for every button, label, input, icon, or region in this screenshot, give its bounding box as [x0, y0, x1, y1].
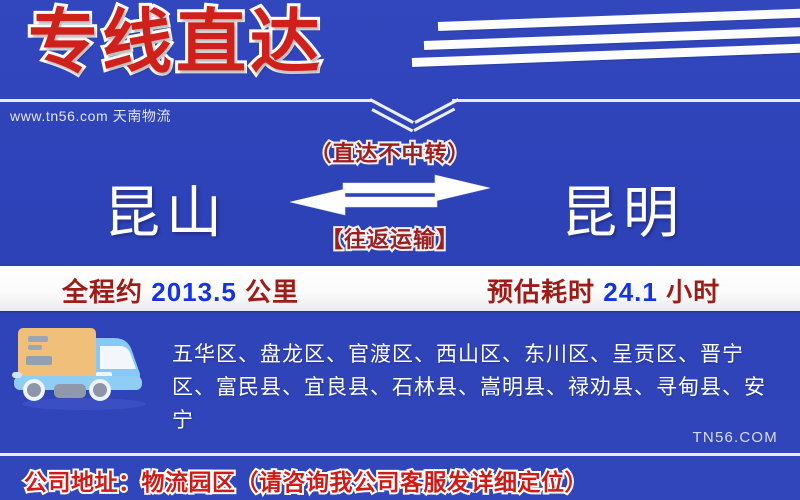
distance-value: 2013.5: [151, 277, 237, 307]
destination-city: 昆明: [561, 168, 685, 249]
route-caption-bottom: 【往返运输】: [275, 222, 505, 254]
metrics-band: 全程约 2013.5 公里 预估耗时 24.1 小时: [0, 266, 800, 311]
duration-unit: 小时: [666, 277, 720, 307]
footer-divider: [0, 453, 800, 456]
distance-prefix: 全程约: [62, 277, 143, 307]
route-middle-block: （直达不中转） 【往返运输】: [275, 136, 505, 254]
duration-prefix: 预估耗时: [487, 277, 595, 307]
website-label: www.tn56.com 天南物流: [10, 106, 171, 126]
footer-bar: 公司地址：物流园区（请咨询我公司客服发详细定位）: [0, 459, 800, 500]
duration-value: 24.1: [603, 277, 658, 307]
divider-rule-left: [0, 99, 372, 102]
divider-rule-right: [452, 99, 800, 102]
diagonal-stripe-1: [438, 7, 800, 31]
distance-unit: 公里: [245, 277, 299, 307]
coverage-district-list: 五华区、盘龙区、官渡区、西山区、东川区、呈贡区、晋宁区、富民县、宜良县、石林县、…: [172, 338, 780, 437]
logistics-route-poster: 专线直达 www.tn56.com 天南物流 昆山 昆明 （直达不中转） 【往返…: [0, 0, 800, 500]
company-address: 公司地址：物流园区（请咨询我公司客服发详细定位）: [0, 463, 588, 497]
distance-metric: 全程约 2013.5 公里: [62, 272, 299, 309]
origin-city: 昆山: [104, 168, 228, 249]
page-title: 专线直达: [28, 2, 324, 83]
route-caption-top: （直达不中转）: [275, 136, 505, 168]
duration-metric: 预估耗时 24.1 小时: [487, 272, 720, 309]
delivery-truck-icon: [8, 320, 158, 412]
watermark-label: TN56.COM: [693, 429, 778, 446]
chevron-down-icon: [368, 96, 456, 130]
bidirectional-arrow-icon: [285, 174, 495, 216]
